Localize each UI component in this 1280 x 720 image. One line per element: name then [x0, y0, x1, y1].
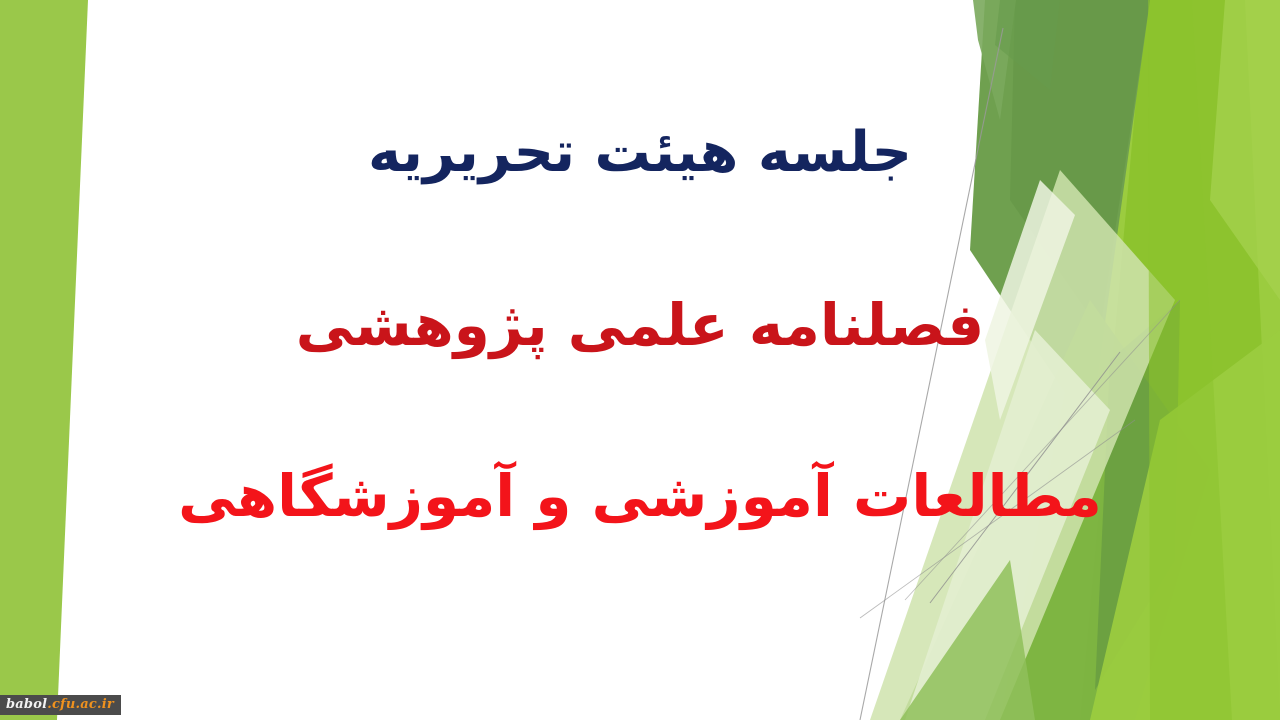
slide-text-block: جلسه هیئت تحریریه فصلنامه علمی پژوهشی مط… — [0, 0, 1280, 720]
slide-subtitle: فصلنامه علمی پژوهشی — [0, 294, 1280, 358]
slide-journal-name: مطالعات آموزشی و آموزشگاهی — [0, 465, 1280, 529]
watermark-domain-suffix: .cfu.ac.ir — [47, 698, 114, 711]
slide-heading: جلسه هیئت تحریریه — [0, 122, 1280, 184]
site-watermark: babol.cfu.ac.ir — [0, 695, 121, 715]
watermark-site-name: babol — [6, 698, 47, 711]
presentation-slide: جلسه هیئت تحریریه فصلنامه علمی پژوهشی مط… — [0, 0, 1280, 720]
